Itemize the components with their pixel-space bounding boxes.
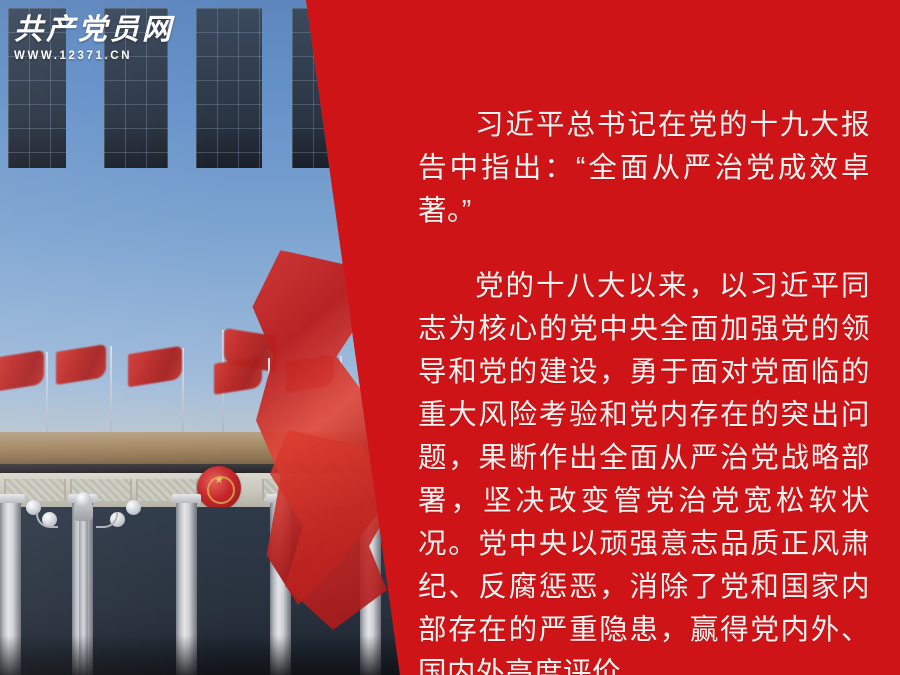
national-emblem-icon: [197, 466, 241, 510]
flag-pole: [110, 346, 112, 442]
flag-pole: [46, 352, 48, 444]
building-base: [0, 635, 430, 675]
window-grid: [196, 8, 262, 168]
site-logo[interactable]: 共产党员网 WWW.12371.CN: [14, 16, 174, 62]
logo-name-cn: 共产党员网: [14, 16, 174, 45]
paragraph-2: 党的十八大以来，以习近平同志为核心的党中央全面加强党的领导和党的建设，勇于面对党…: [418, 265, 870, 675]
flag-pole: [182, 348, 184, 443]
poster-canvas: 共产党员网 WWW.12371.CN 习近平总书记在党的十九大报告中指出：“全面…: [0, 0, 900, 675]
lamp-globe-icon: [76, 492, 91, 507]
lamp-globe-icon: [126, 500, 141, 515]
star-icon: [215, 475, 224, 484]
article-body: 习近平总书记在党的十九大报告中指出：“全面从严治党成效卓著。” 党的十八大以来，…: [418, 104, 870, 675]
paragraph-1: 习近平总书记在党的十九大报告中指出：“全面从严治党成效卓著。”: [418, 104, 870, 233]
logo-url: WWW.12371.CN: [14, 50, 174, 62]
